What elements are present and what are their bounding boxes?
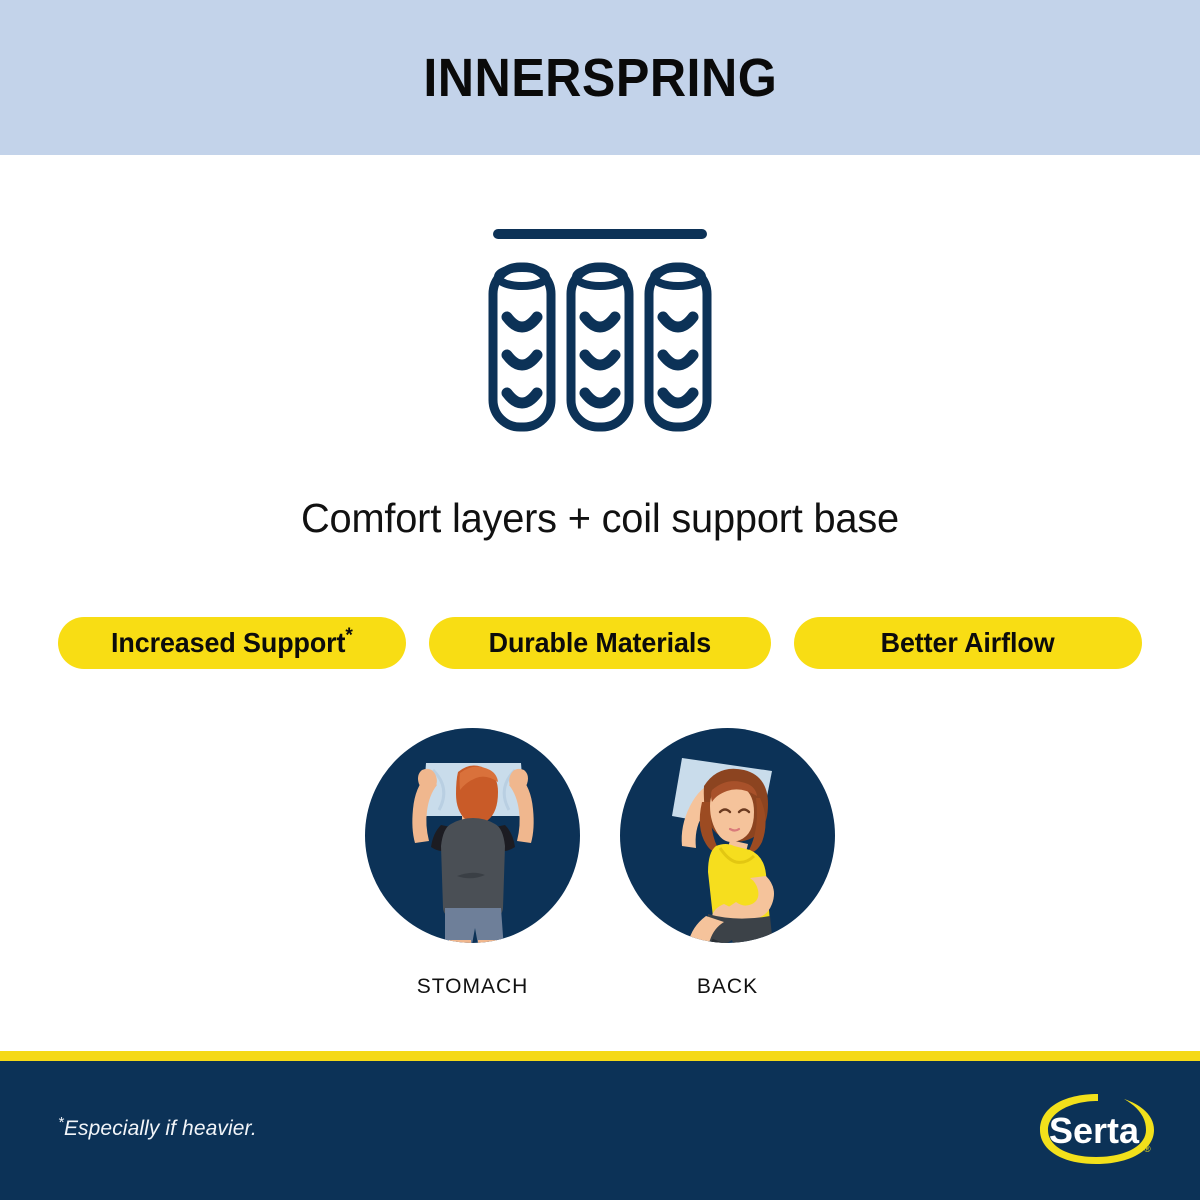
feature-pill-row: Increased Support* Durable Materials Bet… (58, 617, 1142, 669)
tshirt (441, 818, 505, 922)
footer-accent-stripe (0, 1051, 1200, 1061)
icon-container (0, 215, 1200, 440)
stomach-sleeper-circle (365, 728, 580, 943)
feature-pill-durable-materials[interactable]: Durable Materials (429, 617, 771, 669)
logo-registered-mark: ® (1144, 1144, 1151, 1154)
coil-cylinder-3 (649, 267, 707, 427)
sleep-position-stomach[interactable]: STOMACH (365, 728, 580, 999)
page-title: INNERSPRING (423, 51, 777, 105)
feature-pill-label: Durable Materials (489, 627, 711, 659)
back-sleeper-illustration (620, 728, 835, 943)
feature-pill-better-airflow[interactable]: Better Airflow (794, 617, 1142, 669)
feature-pill-increased-support[interactable]: Increased Support* (58, 617, 406, 669)
head-hair (456, 765, 498, 824)
sleep-position-row: STOMACH (0, 728, 1200, 999)
sleep-position-label: BACK (697, 975, 758, 999)
serta-logo[interactable]: Serta ® (1034, 1088, 1162, 1172)
header-band: INNERSPRING (0, 0, 1200, 155)
footnote: *Especially if heavier. (58, 1117, 257, 1141)
coil-cylinder-1 (493, 267, 551, 427)
stomach-sleeper-illustration (365, 728, 580, 943)
back-sleeper-circle (620, 728, 835, 943)
feature-pill-label: Better Airflow (881, 627, 1055, 659)
sleep-position-label: STOMACH (417, 975, 529, 999)
right-leg (478, 940, 500, 943)
tagline: Comfort layers + coil support base (18, 495, 1182, 542)
left-leg (449, 940, 471, 943)
comfort-layer-bar (493, 229, 707, 239)
shorts (445, 908, 504, 943)
serta-logo-mark: Serta ® (1034, 1088, 1162, 1172)
footnote-text: Especially if heavier. (64, 1117, 257, 1140)
innerspring-coils-icon (485, 215, 715, 440)
logo-wordmark: Serta (1049, 1110, 1140, 1151)
footnote-marker: * (345, 625, 352, 647)
sleep-position-back[interactable]: BACK (620, 728, 835, 999)
feature-pill-label: Increased Support* (111, 627, 353, 659)
coil-cylinder-2 (571, 267, 629, 427)
